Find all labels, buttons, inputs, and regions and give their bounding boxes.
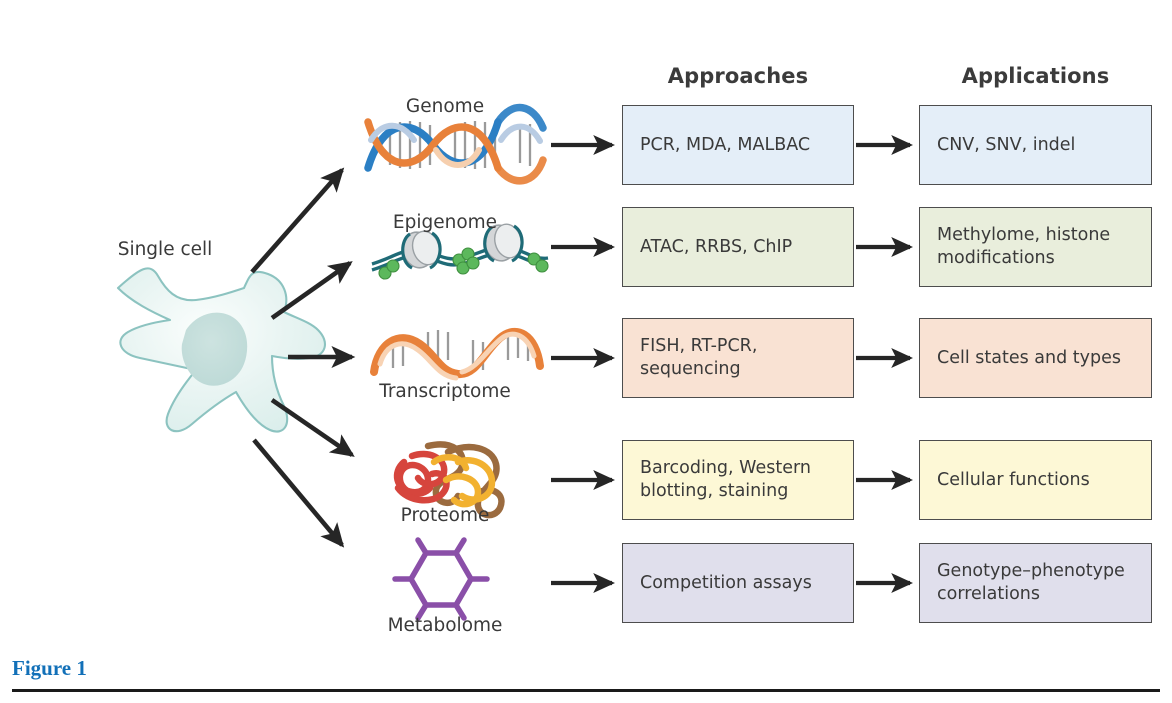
single-cell-label: Single cell bbox=[80, 239, 250, 260]
column-header-applications: Applications bbox=[919, 64, 1152, 88]
application-text-metabolome: Genotype–phenotype correlations bbox=[937, 560, 1125, 606]
fan-arrow-genome bbox=[252, 170, 342, 272]
dna-double-helix-icon bbox=[368, 108, 543, 181]
approach-box-proteome: Barcoding, Western blotting, staining bbox=[622, 440, 854, 520]
approach-box-metabolome: Competition assays bbox=[622, 543, 854, 623]
hexagon-metabolite-icon bbox=[395, 540, 487, 618]
application-box-genome: CNV, SNV, indel bbox=[919, 105, 1152, 185]
approach-box-epigenome: ATAC, RRBS, ChIP bbox=[622, 207, 854, 287]
single-cell-illustration bbox=[118, 268, 325, 431]
application-text-proteome: Cellular functions bbox=[937, 469, 1090, 492]
icon-to-approach-arrows bbox=[551, 145, 612, 583]
omics-label-genome: Genome bbox=[355, 96, 535, 117]
application-text-epigenome: Methylome, histone modifications bbox=[937, 224, 1110, 270]
application-box-epigenome: Methylome, histone modifications bbox=[919, 207, 1152, 287]
approach-text-transcriptome: FISH, RT-PCR, sequencing bbox=[640, 335, 757, 381]
approach-to-application-arrows bbox=[856, 145, 910, 583]
omics-label-metabolome: Metabolome bbox=[350, 615, 540, 636]
figure-caption: Figure 1 bbox=[12, 656, 87, 681]
approach-box-genome: PCR, MDA, MALBAC bbox=[622, 105, 854, 185]
footer-divider bbox=[12, 689, 1160, 692]
omics-label-proteome: Proteome bbox=[355, 505, 535, 526]
approach-box-transcriptome: FISH, RT-PCR, sequencing bbox=[622, 318, 854, 398]
omics-label-transcriptome: Transcriptome bbox=[350, 381, 540, 402]
application-box-transcriptome: Cell states and types bbox=[919, 318, 1152, 398]
approach-text-proteome: Barcoding, Western blotting, staining bbox=[640, 457, 811, 503]
application-box-proteome: Cellular functions bbox=[919, 440, 1152, 520]
column-header-approaches: Approaches bbox=[622, 64, 854, 88]
application-text-genome: CNV, SNV, indel bbox=[937, 134, 1075, 157]
fan-arrow-metabolome bbox=[254, 440, 342, 545]
application-box-metabolome: Genotype–phenotype correlations bbox=[919, 543, 1152, 623]
approach-text-epigenome: ATAC, RRBS, ChIP bbox=[640, 236, 792, 259]
figure-container: Approaches Applications Genome Epigenome… bbox=[0, 0, 1172, 703]
rna-single-strand-icon bbox=[374, 330, 540, 378]
approach-text-genome: PCR, MDA, MALBAC bbox=[640, 134, 810, 157]
application-text-transcriptome: Cell states and types bbox=[937, 347, 1121, 370]
approach-text-metabolome: Competition assays bbox=[640, 572, 812, 595]
omics-label-epigenome: Epigenome bbox=[355, 212, 535, 233]
